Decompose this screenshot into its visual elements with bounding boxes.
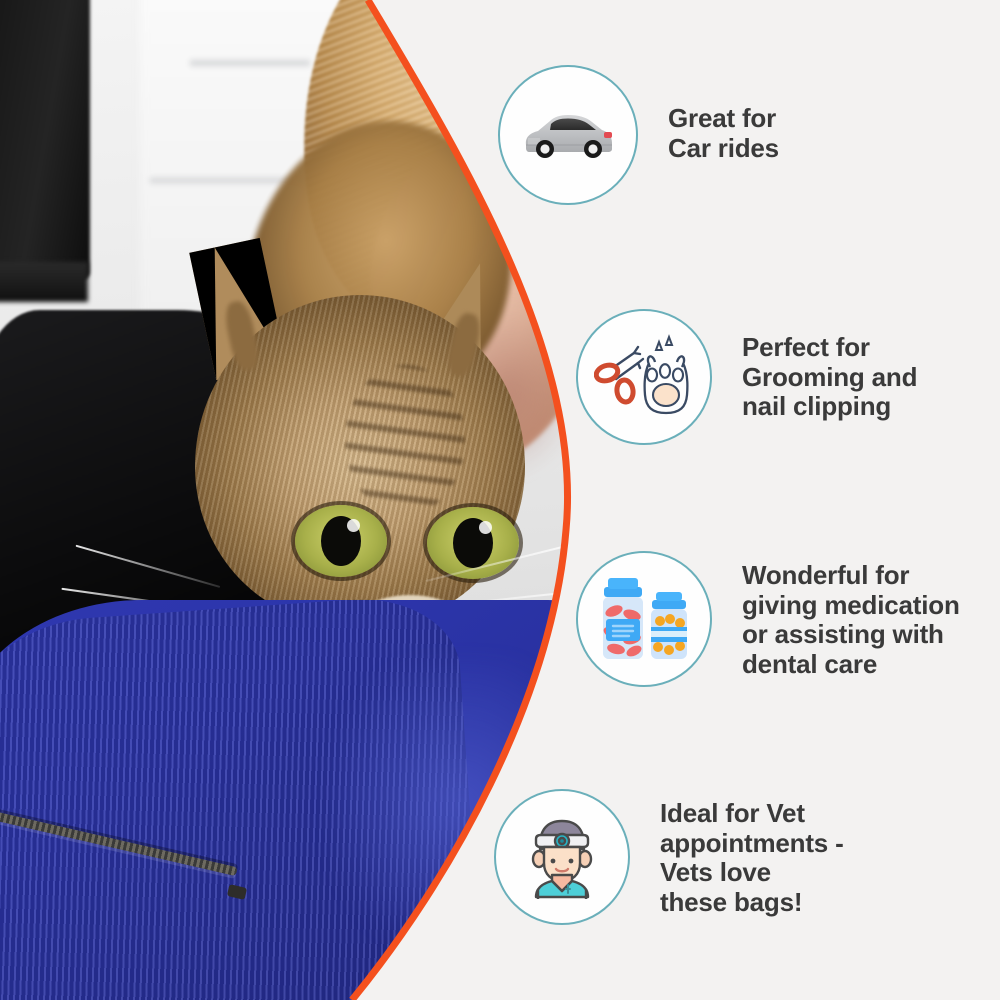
feature-text-grooming: Perfect for Grooming and nail clipping [742, 333, 917, 422]
car-icon [520, 105, 616, 165]
feature-text-medication: Wonderful for giving medication or assis… [742, 561, 960, 679]
feature-list: Great for Car rides [0, 0, 1000, 1000]
feature-icon-vet[interactable] [494, 789, 630, 925]
feature-icon-car-rides[interactable] [498, 65, 638, 205]
nail-clippers-paw-icon [594, 333, 694, 421]
feature-text-car-rides: Great for Car rides [668, 104, 779, 163]
feature-text-vet: Ideal for Vet appointments - Vets love t… [660, 799, 844, 917]
promo-canvas: Great for Car rides [0, 0, 1000, 1000]
feature-icon-grooming[interactable] [576, 309, 712, 445]
pill-bottles-icon [594, 571, 694, 667]
feature-icon-medication[interactable] [576, 551, 712, 687]
veterinarian-icon [514, 809, 610, 905]
